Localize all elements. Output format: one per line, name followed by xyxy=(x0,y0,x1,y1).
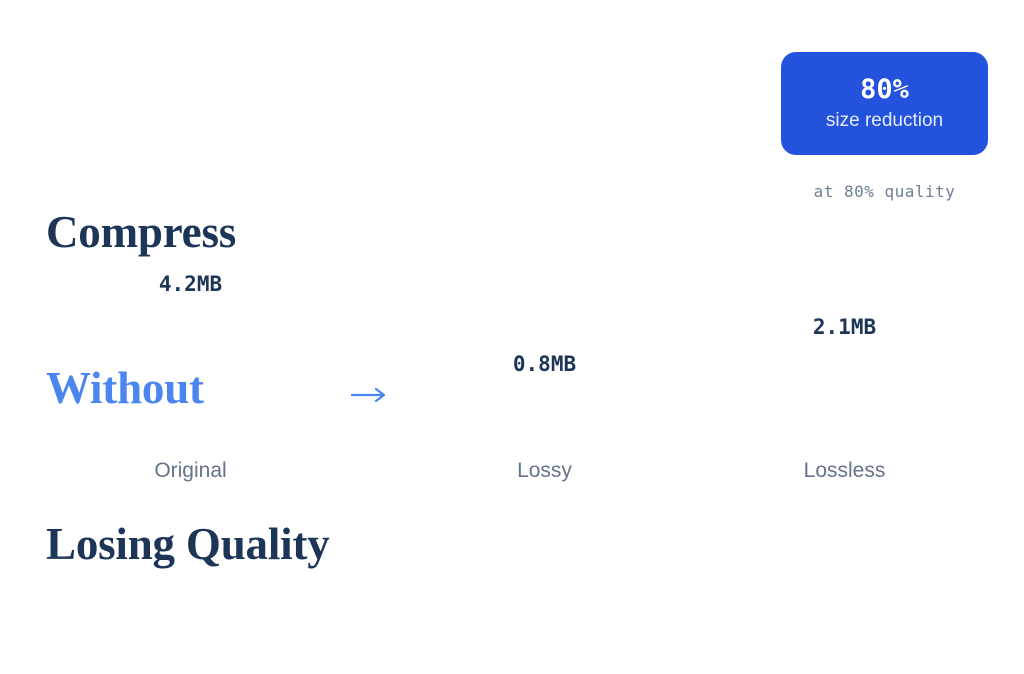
infographic-canvas: Compress Without Losing Quality 80% size… xyxy=(0,0,1024,537)
bar-label-lossy: Lossy xyxy=(400,458,689,483)
bar-group-lossy: 0.8MB Lossy xyxy=(400,390,689,442)
bar-label-lossless: Lossless xyxy=(700,458,989,483)
bar-label-original: Original xyxy=(44,458,337,483)
bar-group-original: 4.2MB Original xyxy=(44,310,337,442)
file-size-bar-chart: 4.2MB Original 0.8MB Lossy 2.1MB Lossles… xyxy=(0,0,1024,537)
bar-value-original: 4.2MB xyxy=(44,272,337,296)
bar-value-lossless: 2.1MB xyxy=(700,315,989,339)
bar-value-lossy: 0.8MB xyxy=(400,352,689,376)
arrow-right-icon xyxy=(351,386,387,404)
bar-group-lossless: 2.1MB Lossless xyxy=(700,353,989,442)
